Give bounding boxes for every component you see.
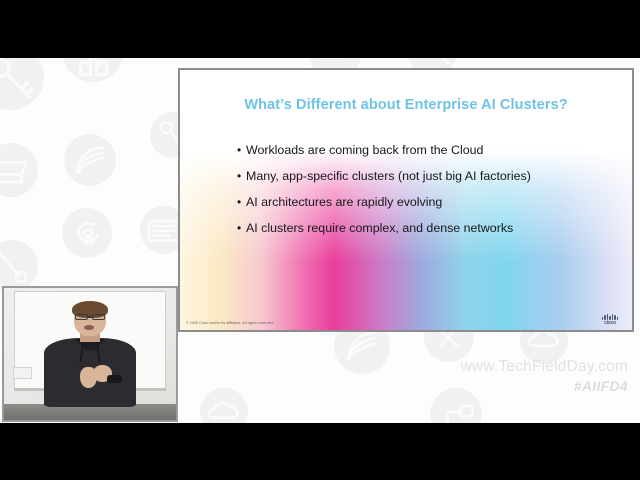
techfieldday-branding: www.TechFieldDay.com #AIIFD4 [461,358,628,394]
presenter-video-inset[interactable] [2,286,178,422]
techfieldday-url: www.TechFieldDay.com [461,358,628,376]
bullet-marker-icon: • [237,221,246,236]
wristwatch [107,375,122,383]
cisco-logo: cisco [597,311,623,326]
presenter-mouth [84,325,94,330]
wall-switch [13,367,32,379]
slide-bullet-list: • Workloads are coming back from the Clo… [237,143,614,247]
list-item: • AI clusters require complex, and dense… [237,221,614,237]
event-hashtag: #AIIFD4 [461,378,628,394]
video-player-stage: What’s Different about Enterprise AI Clu… [0,0,640,480]
list-item-label: Workloads are coming back from the Cloud [246,143,483,159]
list-item: • Workloads are coming back from the Clo… [237,143,614,159]
cloud-icon [200,388,248,423]
wifi-icon [64,134,116,186]
cisco-bridge-icon [602,313,618,320]
bullet-marker-icon: • [237,143,246,158]
bullet-marker-icon: • [237,195,246,210]
cisco-wordmark: cisco [604,320,616,326]
list-item-label: Many, app-specific clusters (not just bi… [246,169,531,185]
video-frame[interactable]: What’s Different about Enterprise AI Clu… [0,58,640,423]
list-item: • Many, app-specific clusters (not just … [237,169,614,185]
list-item-label: AI architectures are rapidly evolving [246,195,442,211]
tools-icon [62,58,124,82]
server-icon [0,143,38,197]
key-icon [0,58,44,110]
glasses-icon [75,314,106,320]
bullet-marker-icon: • [237,169,246,184]
cable-icon [62,208,112,258]
letterbox-bar-bottom [0,423,640,480]
slide-title: What’s Different about Enterprise AI Clu… [180,97,632,113]
slide-canvas: What’s Different about Enterprise AI Clu… [180,70,632,330]
presentation-slide[interactable]: What’s Different about Enterprise AI Clu… [178,68,634,332]
presenter-hand-left [80,367,97,388]
list-item-label: AI clusters require complex, and dense n… [246,221,513,237]
tools-icon [0,240,38,292]
letterbox-bar-top [0,0,640,58]
list-item: • AI architectures are rapidly evolving [237,195,614,211]
slide-copyright: © 2025 Cisco and/or its affiliates. All … [186,320,274,325]
